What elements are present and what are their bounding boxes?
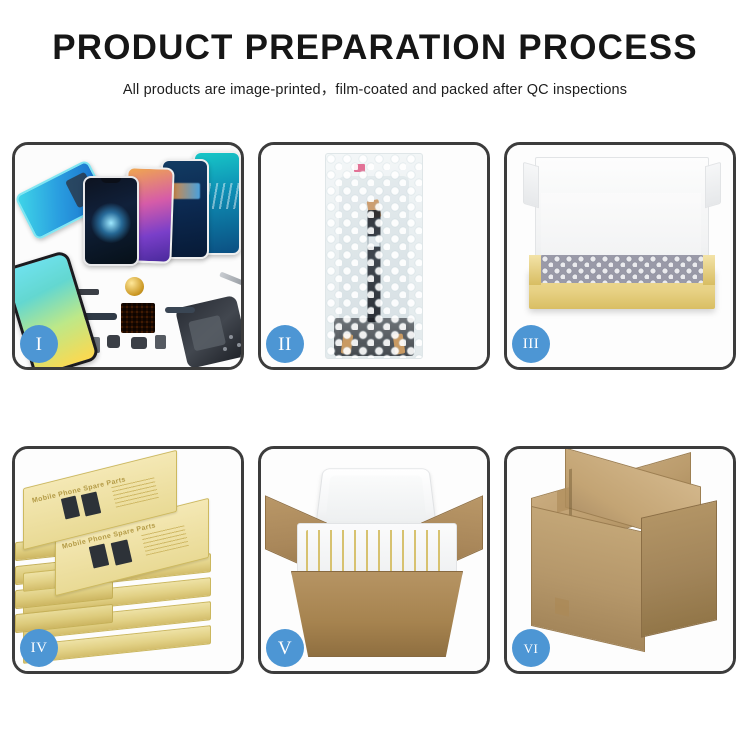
phones-and-spare-parts-image: I bbox=[15, 145, 241, 367]
sealed-carton-image: VI bbox=[507, 449, 733, 671]
packed-trays-icon bbox=[306, 530, 448, 572]
bubble-texture-overlay bbox=[326, 154, 422, 358]
page-subtitle: All products are image-printed，film-coat… bbox=[0, 78, 750, 99]
screw-icon bbox=[237, 343, 241, 347]
stacked-boxes-image: Mobile Phone Spare Parts Mobile Phone Sp… bbox=[15, 449, 241, 671]
process-steps-grid: I II bbox=[12, 142, 738, 674]
open-kraft-box-image: III bbox=[507, 145, 733, 367]
step-badge-4: IV bbox=[20, 629, 58, 667]
screw-icon bbox=[229, 335, 233, 339]
bubble-wrap-bag bbox=[325, 153, 423, 359]
carton-tape-front bbox=[555, 597, 569, 616]
process-step-panel-5: V bbox=[258, 446, 490, 674]
foam-box-in-carton-image: V bbox=[261, 449, 487, 671]
step-badge-3: III bbox=[512, 325, 550, 363]
step-badge-2: II bbox=[266, 325, 304, 363]
tweezers-icon bbox=[219, 272, 241, 288]
carton-side-face bbox=[641, 500, 717, 638]
screen-glow-icon bbox=[91, 203, 131, 243]
vibration-motor-icon bbox=[131, 337, 147, 349]
kraft-box-tray bbox=[529, 269, 715, 309]
phone-notch-icon bbox=[101, 178, 121, 183]
step-badge-6: VI bbox=[512, 629, 550, 667]
step-badge-1: I bbox=[20, 325, 58, 363]
process-step-panel-3: III bbox=[504, 142, 736, 370]
step-badge-5: V bbox=[266, 629, 304, 667]
process-step-panel-6: VI bbox=[504, 446, 736, 674]
tray-lip-right bbox=[703, 255, 715, 285]
black-phone-screen-icon bbox=[83, 176, 139, 266]
speaker-coil-icon bbox=[125, 277, 144, 296]
page-title: PRODUCT PREPARATION PROCESS bbox=[0, 30, 750, 67]
process-step-panel-2: II bbox=[258, 142, 490, 370]
process-step-panel-4: Mobile Phone Spare Parts Mobile Phone Sp… bbox=[12, 446, 244, 674]
carton-tape-top bbox=[557, 487, 569, 512]
bubble-wrap-fill-icon bbox=[541, 255, 703, 283]
process-step-panel-1: I bbox=[12, 142, 244, 370]
product-preparation-process-page: PRODUCT PREPARATION PROCESS All products… bbox=[0, 0, 750, 750]
phone-back-housing-icon bbox=[175, 295, 241, 367]
camera-module-icon bbox=[107, 335, 120, 348]
carton-front-face bbox=[531, 506, 645, 652]
bubble-wrapped-screen-image: II bbox=[261, 145, 487, 367]
screw-icon bbox=[223, 347, 227, 351]
flex-cable-right-icon bbox=[165, 307, 195, 313]
logic-board-chip-icon bbox=[121, 303, 155, 333]
tray-lip-left bbox=[529, 255, 541, 285]
spare-parts-group bbox=[77, 277, 241, 367]
foam-lid-icon bbox=[315, 468, 437, 529]
sim-tray-icon bbox=[155, 335, 166, 349]
page-header: PRODUCT PREPARATION PROCESS All products… bbox=[0, 0, 750, 99]
carton-body bbox=[291, 571, 463, 657]
